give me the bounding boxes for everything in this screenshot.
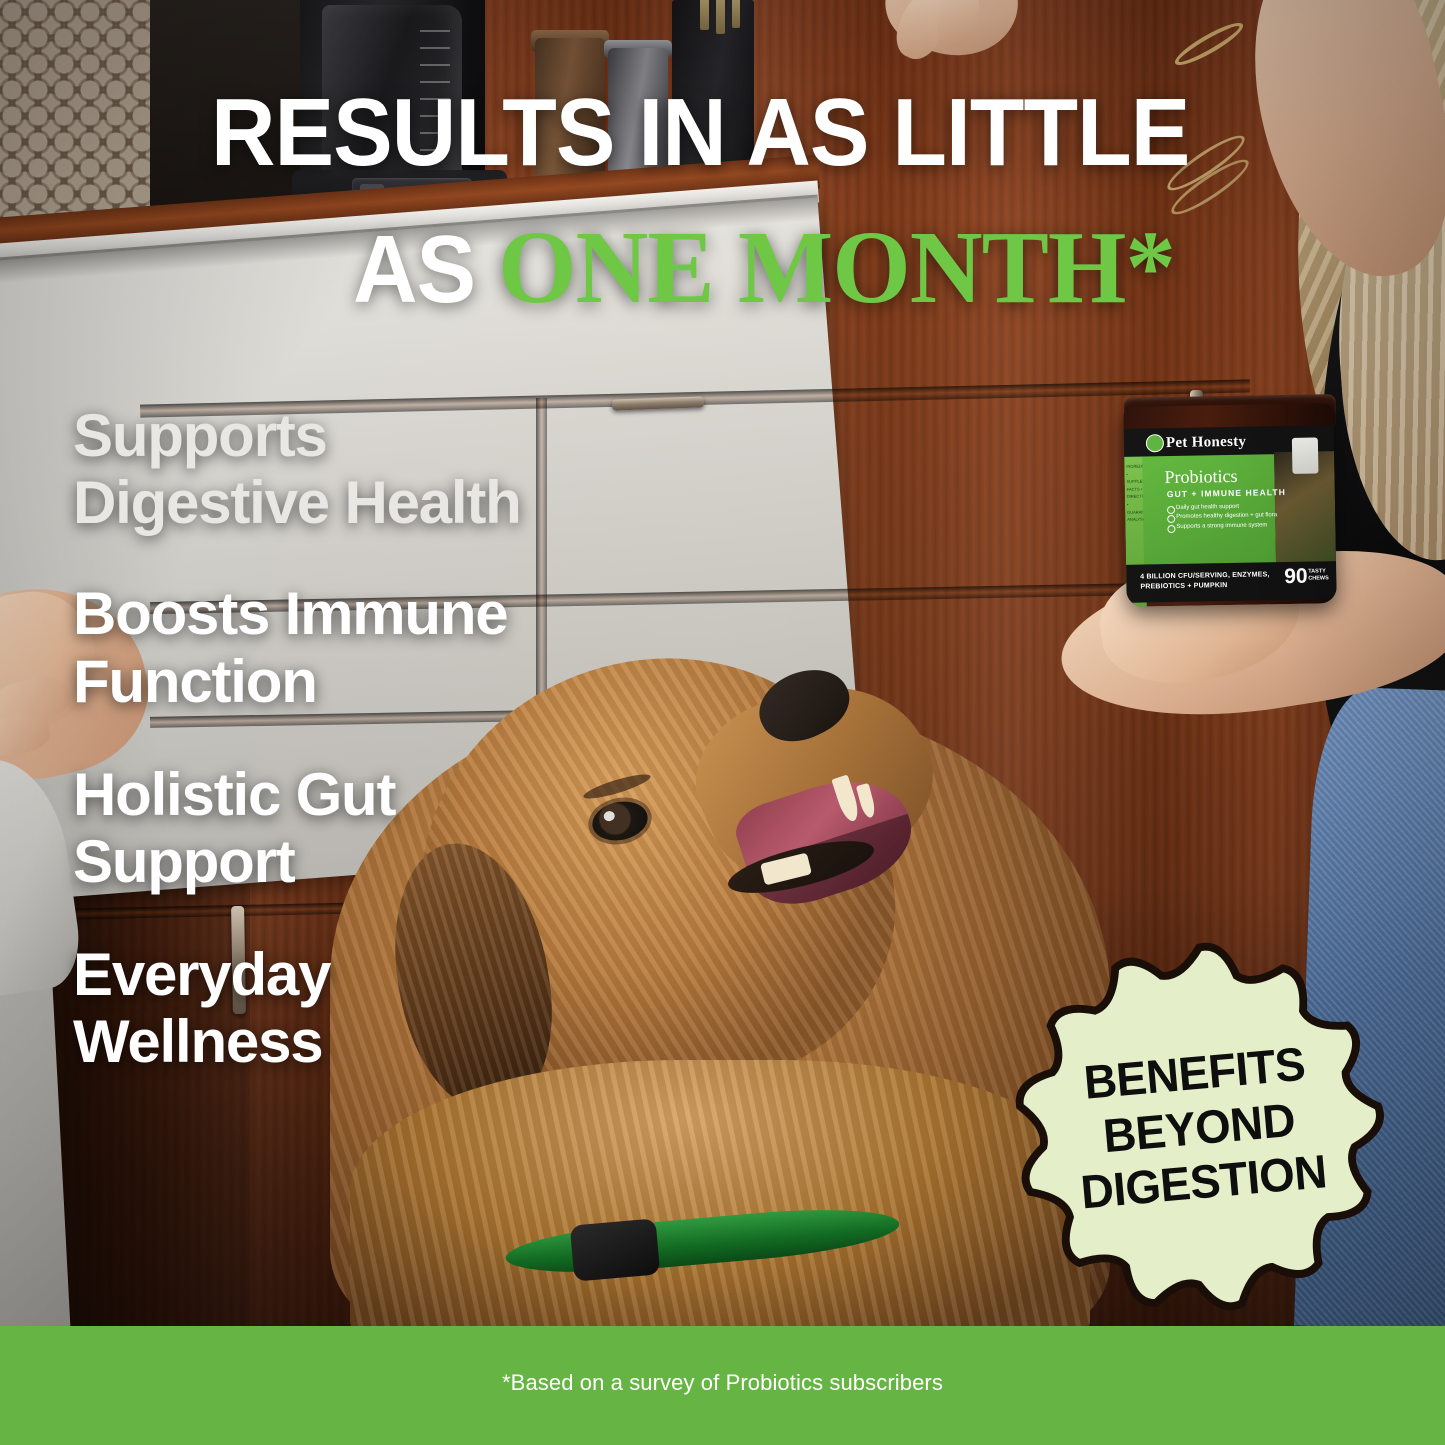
headline-as-word: AS xyxy=(353,215,475,325)
knife-handle xyxy=(732,0,740,28)
jar-count-label: TASTY CHEWS xyxy=(1308,568,1334,583)
jar-claim-text: 4 BILLION CFU/SERVING, ENZYMES, PREBIOTI… xyxy=(1140,570,1290,593)
benefit-item-immune-function: Boosts Immune Function xyxy=(73,580,713,714)
benefits-list: Supports Digestive Health Boosts Immune … xyxy=(73,402,713,1076)
benefits-beyond-digestion-badge: BENEFITS BEYOND DIGESTION xyxy=(1000,932,1398,1324)
dog-chest-fur xyxy=(350,1060,1090,1350)
benefit-line: Digestive Health xyxy=(73,469,713,536)
headline-one-month: ONE MONTH* xyxy=(498,208,1175,327)
jar-count-number: 90 xyxy=(1284,566,1308,587)
knife-handle xyxy=(716,0,725,34)
jar-product-subtitle: GUT + IMMUNE HEALTH xyxy=(1167,488,1286,499)
headline-line-1: RESULTS IN AS LITTLE xyxy=(211,78,1189,188)
benefit-line: Boosts Immune xyxy=(73,580,713,647)
ad-creative: INGREDIENTS • SUPPLEMENT FACTS • DIRECTI… xyxy=(0,0,1445,1445)
headline-line-2: ASONE MONTH* xyxy=(353,208,1196,327)
jar-product-title: Probiotics xyxy=(1164,467,1237,486)
dog-collar-buckle xyxy=(570,1218,661,1281)
jar-benefit-bullets: Daily gut health support Promotes health… xyxy=(1167,502,1277,532)
badge-text-block: BENEFITS BEYOND DIGESTION xyxy=(984,915,1415,1340)
jar-brand-name: Pet Honesty xyxy=(1166,435,1247,451)
benefit-line: Support xyxy=(73,828,713,895)
benefit-line: Everyday xyxy=(73,941,713,1008)
knife-handle xyxy=(700,0,709,30)
benefit-item-holistic-gut-support: Holistic Gut Support xyxy=(73,761,713,895)
benefit-item-everyday-wellness: Everyday Wellness xyxy=(73,941,713,1075)
product-jar: INGREDIENTS • SUPPLEMENT FACTS • DIRECTI… xyxy=(1123,403,1336,607)
footer-disclaimer: *Based on a survey of Probiotics subscri… xyxy=(502,1370,943,1396)
benefit-line: Function xyxy=(73,648,713,715)
jar-bullet: Supports a strong immune system xyxy=(1167,521,1277,532)
footer-bar: *Based on a survey of Probiotics subscri… xyxy=(0,1326,1445,1445)
benefit-line: Holistic Gut xyxy=(73,761,713,828)
natural-seal-badge xyxy=(1292,437,1319,473)
benefit-line: Wellness xyxy=(73,1008,713,1075)
benefit-line: Supports xyxy=(73,402,713,469)
benefit-item-digestive-health: Supports Digestive Health xyxy=(73,402,713,536)
